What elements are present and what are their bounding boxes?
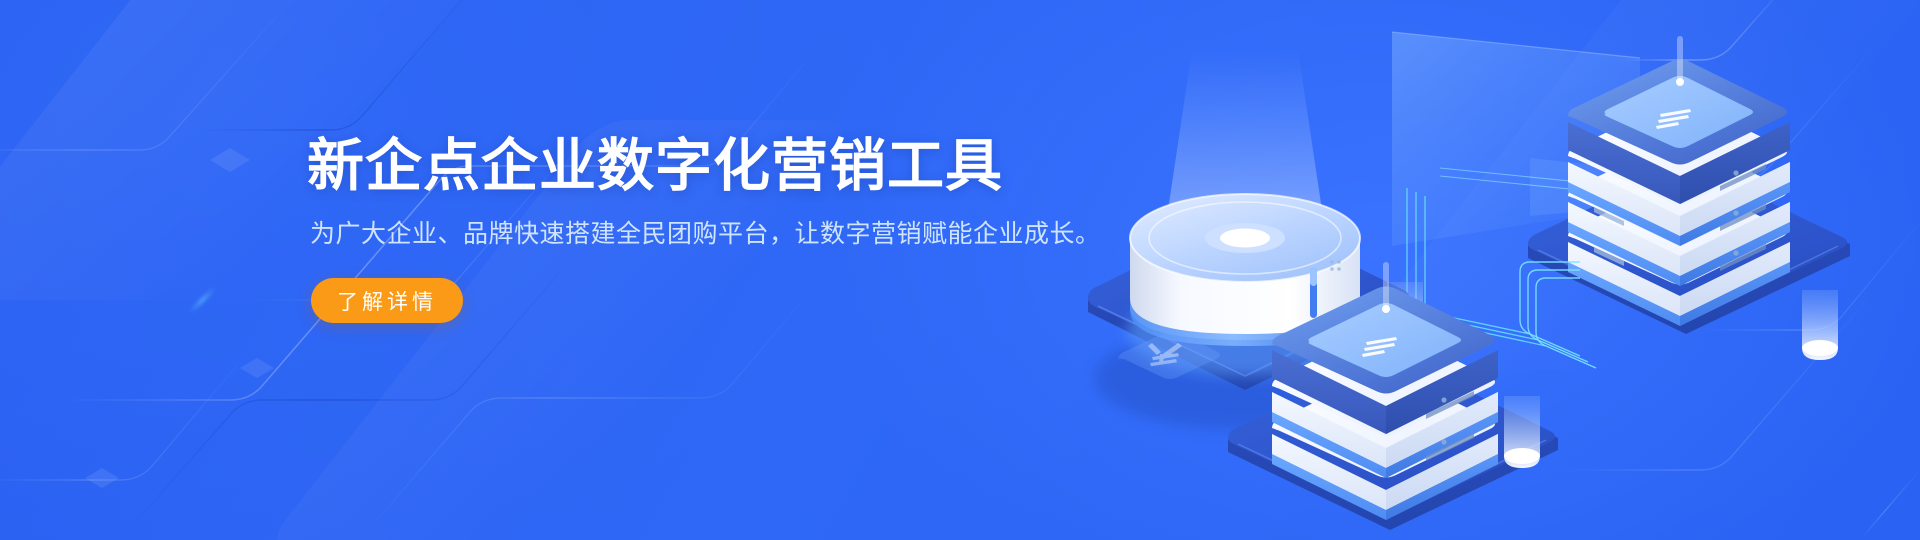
hero-banner: 新企点企业数字化营销工具 为广大企业、品牌快速搭建全民团购平台，让数字营销赋能企… [0, 0, 1920, 540]
banner-copy: 新企点企业数字化营销工具 为广大企业、品牌快速搭建全民团购平台，让数字营销赋能企… [307, 130, 1007, 323]
light-pillar-lower [1504, 396, 1540, 468]
banner-subtitle: 为广大企业、品牌快速搭建全民团购平台，让数字营销赋能企业成长。 [310, 216, 1007, 252]
learn-more-button[interactable]: 了解详情 [311, 278, 463, 323]
isometric-illustration [1060, 10, 1920, 540]
light-pillar-upper [1802, 290, 1838, 360]
banner-headline: 新企点企业数字化营销工具 [307, 130, 1007, 202]
